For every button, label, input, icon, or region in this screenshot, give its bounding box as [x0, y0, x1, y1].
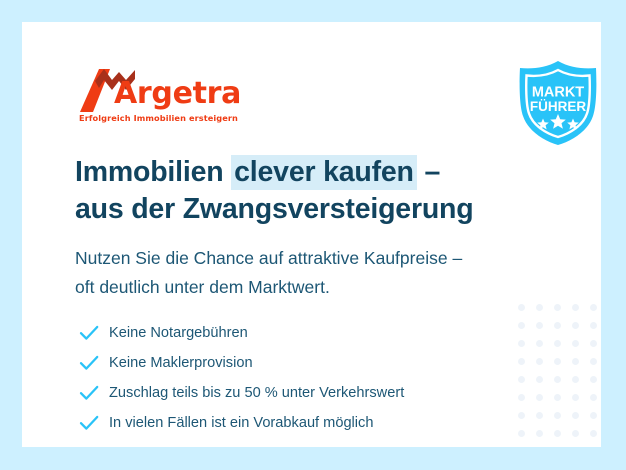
decoration-dot	[572, 394, 579, 401]
market-leader-badge: MARKT FÜHRER	[512, 58, 601, 148]
decoration-dot	[590, 412, 597, 419]
decoration-dot	[590, 322, 597, 329]
check-icon	[76, 410, 102, 436]
decoration-dot	[554, 358, 561, 365]
check-icon	[76, 350, 102, 376]
decoration-dot	[590, 304, 597, 311]
decoration-dot	[590, 340, 597, 347]
decoration-dot	[572, 358, 579, 365]
decoration-dot	[554, 322, 561, 329]
decoration-dot	[590, 394, 597, 401]
decoration-dot	[554, 376, 561, 383]
page-title: Immobilien clever kaufen – aus der Zwang…	[75, 154, 555, 228]
decoration-dot	[572, 376, 579, 383]
subheading-line2: oft deutlich unter dem Marktwert.	[75, 277, 330, 297]
list-item: In vielen Fällen ist ein Vorabkauf mögli…	[76, 408, 496, 438]
list-item: Keine Maklerprovision	[76, 348, 496, 378]
decoration-dot	[536, 376, 543, 383]
decoration-dot	[536, 322, 543, 329]
decoration-dot	[536, 340, 543, 347]
logo-tagline: Erfolgreich Immobilien ersteigern	[79, 113, 238, 123]
list-item: Zuschlag teils bis zu 50 % unter Verkehr…	[76, 378, 496, 408]
list-item-label: In vielen Fällen ist ein Vorabkauf mögli…	[109, 415, 373, 431]
logo-wordmark: Argetra	[114, 76, 241, 111]
decoration-dot	[572, 340, 579, 347]
headline-pre: Immobilien	[75, 156, 231, 188]
shield-icon: MARKT FÜHRER	[512, 58, 601, 148]
subheading: Nutzen Sie die Chance auf attraktive Kau…	[75, 244, 565, 302]
decoration-dot	[590, 430, 597, 437]
decoration-dot	[518, 304, 525, 311]
decoration-dot	[554, 430, 561, 437]
decoration-dot	[572, 412, 579, 419]
headline-post: –	[417, 156, 440, 188]
decoration-dot	[572, 430, 579, 437]
argetra-logo[interactable]: Argetra Erfolgreich Immobilien ersteiger…	[78, 67, 238, 129]
dot-grid-decoration	[518, 304, 601, 447]
decoration-dot	[536, 304, 543, 311]
check-icon	[76, 380, 102, 406]
headline-line1: Immobilien clever kaufen –	[75, 155, 440, 190]
decoration-dot	[554, 412, 561, 419]
list-item-label: Keine Notargebühren	[109, 325, 248, 341]
decoration-dot	[518, 322, 525, 329]
decoration-dot	[518, 430, 525, 437]
list-item: Keine Notargebühren	[76, 318, 496, 348]
check-icon	[76, 320, 102, 346]
banner-card: Argetra Erfolgreich Immobilien ersteiger…	[22, 22, 601, 447]
decoration-dot	[536, 394, 543, 401]
decoration-dot	[536, 430, 543, 437]
list-item-label: Zuschlag teils bis zu 50 % unter Verkehr…	[109, 385, 404, 401]
decoration-dot	[518, 358, 525, 365]
decoration-dot	[572, 322, 579, 329]
decoration-dot	[554, 304, 561, 311]
headline-line2: aus der Zwangsversteigerung	[75, 193, 473, 225]
decoration-dot	[590, 358, 597, 365]
decoration-dot	[518, 394, 525, 401]
badge-line2: FÜHRER	[530, 99, 586, 114]
decoration-dot	[554, 340, 561, 347]
decoration-dot	[572, 304, 579, 311]
headline-highlight: clever kaufen	[231, 155, 417, 190]
decoration-dot	[518, 376, 525, 383]
promo-banner: Argetra Erfolgreich Immobilien ersteiger…	[0, 0, 626, 470]
benefits-list: Keine Notargebühren Keine Maklerprovisio…	[76, 318, 496, 438]
decoration-dot	[518, 412, 525, 419]
decoration-dot	[590, 376, 597, 383]
subheading-line1: Nutzen Sie die Chance auf attraktive Kau…	[75, 248, 462, 268]
decoration-dot	[554, 394, 561, 401]
decoration-dot	[518, 340, 525, 347]
list-item-label: Keine Maklerprovision	[109, 355, 253, 371]
decoration-dot	[536, 358, 543, 365]
decoration-dot	[536, 412, 543, 419]
